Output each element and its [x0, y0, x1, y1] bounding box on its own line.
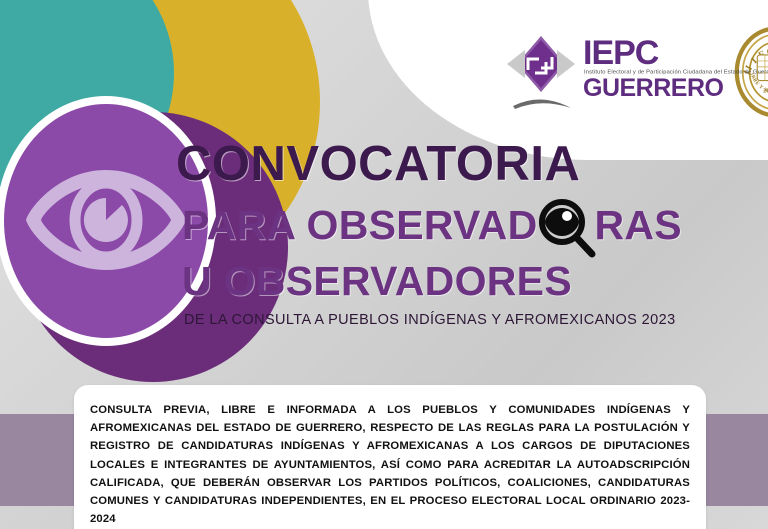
headline-block: CONVOCATORIA PARA OBSERVAD RAS U OBSERVA…: [176, 138, 716, 329]
svg-text:2021-2024: 2021-2024: [764, 88, 768, 94]
body-text-card: CONSULTA PREVIA, LIBRE E INFORMADA A LOS…: [74, 385, 706, 529]
iepc-acronym: IEPC: [583, 38, 723, 68]
headline-line-u-observadores: U OBSERVADORES: [176, 259, 716, 303]
iepc-logo: IEPC Instituto Electoral y de Participac…: [505, 30, 723, 114]
headline-para-after: RAS: [594, 203, 681, 247]
mauve-band-left: [0, 414, 76, 506]
headline-line-para-observadoras: PARA OBSERVAD RAS: [176, 193, 716, 257]
logo-row: IEPC Instituto Electoral y de Participac…: [505, 24, 763, 120]
poster-canvas: IEPC Instituto Electoral y de Participac…: [0, 0, 768, 529]
magnifier-eye-icon: [534, 195, 598, 259]
iepc-tagline: Instituto Electoral y de Participación C…: [584, 69, 768, 77]
eye-observer-icon: [24, 160, 188, 280]
body-paragraph: CONSULTA PREVIA, LIBRE E INFORMADA A LOS…: [90, 401, 690, 528]
headline-subtitle: DE LA CONSULTA A PUEBLOS INDÍGENAS Y AFR…: [176, 311, 716, 329]
iepc-wordmark: IEPC Instituto Electoral y de Participac…: [583, 30, 723, 101]
headline-line-convocatoria: CONVOCATORIA: [176, 138, 716, 190]
headline-para-before: PARA OBSERVAD: [182, 203, 537, 247]
iepc-diamond-logo-icon: [505, 30, 577, 114]
iepc-state-name: GUERRERO: [583, 76, 723, 101]
